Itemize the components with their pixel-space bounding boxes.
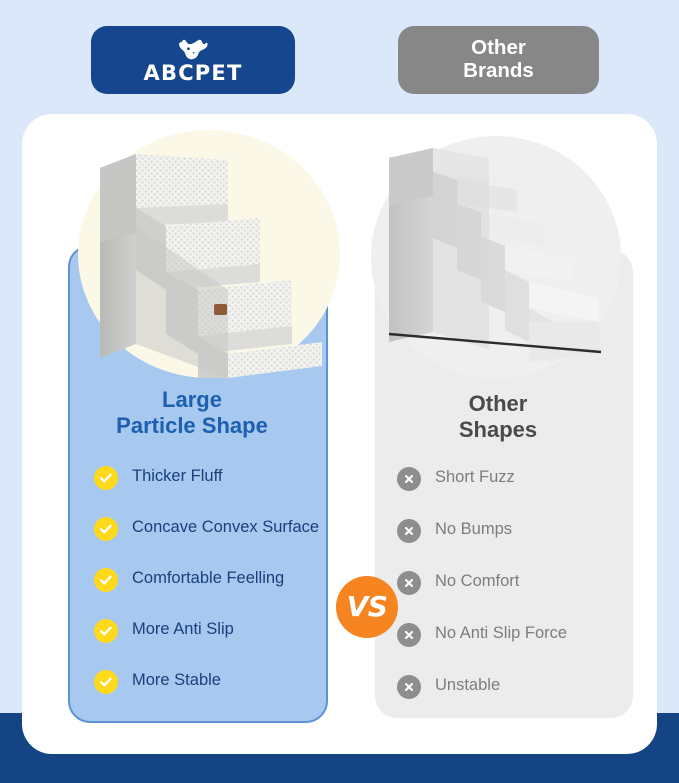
brand-pill: ABCPET bbox=[91, 26, 295, 94]
feature-item: Unstable bbox=[397, 675, 633, 701]
shape-title-left-line1: Large bbox=[42, 387, 342, 413]
cross-icon bbox=[397, 467, 421, 491]
product-image-left bbox=[78, 130, 340, 378]
cross-icon bbox=[397, 623, 421, 647]
other-brands-pill: Other Brands bbox=[398, 26, 599, 94]
feature-item: No Bumps bbox=[397, 519, 633, 545]
shape-title-right: Other Shapes bbox=[353, 391, 643, 443]
feature-label: Concave Convex Surface bbox=[132, 517, 319, 538]
comparison-column-right: Other Shapes Short Fuzz No Bumps N bbox=[353, 114, 643, 754]
feature-label: Short Fuzz bbox=[435, 467, 515, 488]
shape-title-left-line2: Particle Shape bbox=[42, 413, 342, 439]
check-icon bbox=[94, 568, 118, 592]
feature-label: Unstable bbox=[435, 675, 500, 696]
feature-item: More Stable bbox=[94, 670, 328, 696]
vs-badge: VS bbox=[336, 576, 398, 638]
check-icon bbox=[94, 517, 118, 541]
feature-label: Comfortable Feelling bbox=[132, 568, 284, 589]
shape-title-right-line1: Other bbox=[353, 391, 643, 417]
comparison-card: Large Particle Shape Thicker Fluff Conca… bbox=[22, 114, 657, 754]
comparison-column-left: Large Particle Shape Thicker Fluff Conca… bbox=[42, 114, 342, 754]
cross-icon bbox=[397, 571, 421, 595]
header-row: ABCPET Other Brands bbox=[0, 26, 679, 96]
other-brands-line1: Other bbox=[471, 37, 526, 60]
check-icon bbox=[94, 466, 118, 490]
check-icon bbox=[94, 670, 118, 694]
feature-item: No Anti Slip Force bbox=[397, 623, 633, 649]
textured-pet-stairs-illustration bbox=[78, 130, 340, 378]
feature-item: More Anti Slip bbox=[94, 619, 328, 645]
feature-list-left: Thicker Fluff Concave Convex Surface Com… bbox=[42, 466, 342, 721]
brand-name-label: ABCPET bbox=[144, 63, 243, 84]
dog-head-icon bbox=[176, 38, 210, 62]
feature-label: No Bumps bbox=[435, 519, 512, 540]
feature-item: Comfortable Feelling bbox=[94, 568, 328, 594]
feature-label: No Comfort bbox=[435, 571, 519, 592]
other-brands-line2: Brands bbox=[463, 60, 534, 83]
product-image-right bbox=[371, 136, 621, 378]
cross-icon bbox=[397, 675, 421, 699]
cross-icon bbox=[397, 519, 421, 543]
feature-item: Short Fuzz bbox=[397, 467, 633, 493]
plain-pet-stairs-illustration bbox=[371, 136, 621, 378]
feature-label: Thicker Fluff bbox=[132, 466, 222, 487]
feature-label: No Anti Slip Force bbox=[435, 623, 567, 644]
shape-title-right-line2: Shapes bbox=[353, 417, 643, 443]
feature-label: More Stable bbox=[132, 670, 221, 691]
feature-item: Concave Convex Surface bbox=[94, 517, 328, 543]
feature-item: No Comfort bbox=[397, 571, 633, 597]
shape-title-left: Large Particle Shape bbox=[42, 387, 342, 439]
feature-label: More Anti Slip bbox=[132, 619, 234, 640]
check-icon bbox=[94, 619, 118, 643]
vs-label: VS bbox=[347, 593, 388, 621]
feature-item: Thicker Fluff bbox=[94, 466, 328, 492]
